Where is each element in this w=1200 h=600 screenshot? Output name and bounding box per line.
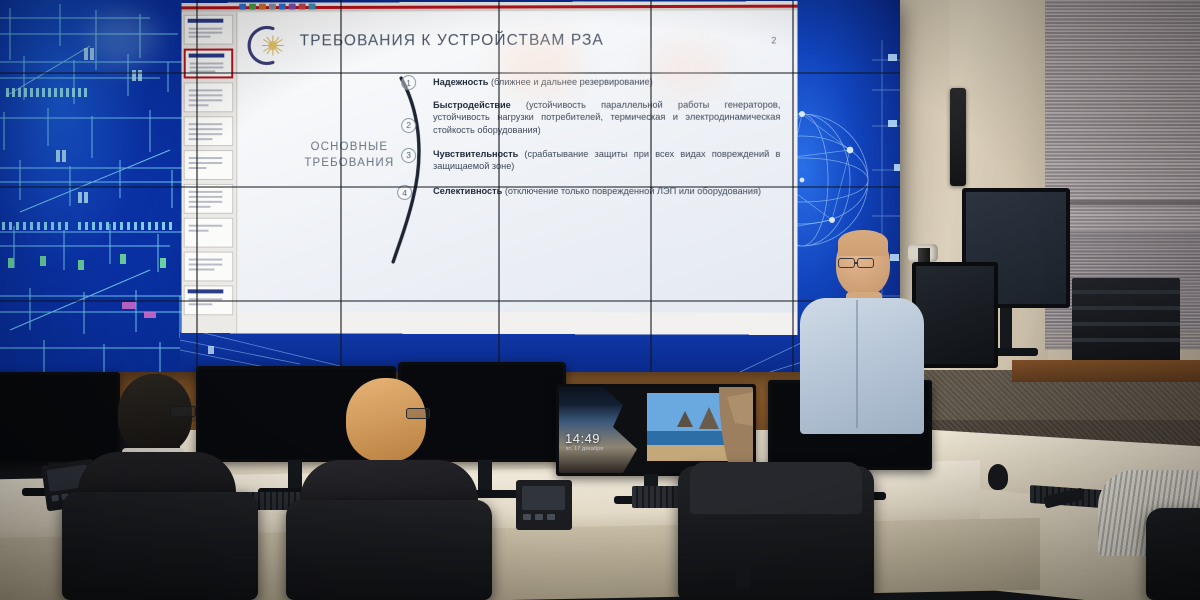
ribbon-icon-3[interactable] <box>259 4 266 10</box>
lock-screen-clock: 14:49 <box>565 431 600 446</box>
slide-thumbnail[interactable] <box>184 218 233 248</box>
item-badge: 3 <box>401 148 416 163</box>
lock-screen-date: вт, 17 декабря <box>566 446 603 452</box>
student-1-chair[interactable] <box>62 492 258 600</box>
glasses-icon <box>406 408 430 419</box>
item-text: (ближнее и дальнее резервирование) <box>488 77 652 87</box>
powerpoint-ribbon[interactable] <box>182 1 798 12</box>
item-badge: 1 <box>401 75 416 90</box>
wall-speaker-icon <box>950 88 966 186</box>
glasses-bridge <box>855 262 858 264</box>
secondary-wall-monitor[interactable] <box>912 262 998 368</box>
ribbon-icon-7[interactable] <box>299 4 306 10</box>
wood-ledge <box>1012 360 1200 382</box>
desk-phone-2[interactable] <box>516 480 572 530</box>
empty-chair-back <box>690 462 862 514</box>
decorative-arc-icon <box>387 72 433 273</box>
bezel-seam <box>0 186 900 188</box>
ribbon-icon-group[interactable] <box>239 3 315 10</box>
presenter-shirt <box>800 298 924 434</box>
slide-thumbnail[interactable] <box>184 116 233 146</box>
bezel-seam <box>0 72 900 74</box>
monitor-stand <box>478 460 492 494</box>
chair-column <box>736 552 750 588</box>
ribbon-icon-5[interactable] <box>279 4 286 10</box>
item-term: Чувствительность <box>433 149 518 159</box>
slide-number: 2 <box>771 35 776 45</box>
slide-thumbnail[interactable] <box>184 82 233 112</box>
slide-thumbnail[interactable] <box>184 15 233 45</box>
item-term: Надежность <box>433 77 488 87</box>
ribbon-icon-1[interactable] <box>239 4 246 10</box>
lock-screen: 14:49 вт, 17 декабря <box>559 387 753 473</box>
student-2-chair[interactable] <box>286 500 492 600</box>
ribbon-icon-2[interactable] <box>249 4 256 10</box>
slide-thumbnail[interactable] <box>184 252 233 282</box>
glasses-icon <box>838 258 855 268</box>
presenter-hair <box>838 230 888 256</box>
item-badge: 2 <box>401 118 416 133</box>
ribbon-icon-6[interactable] <box>289 4 296 10</box>
ribbon-icon-8[interactable] <box>309 3 316 9</box>
bezel-seam <box>0 300 900 302</box>
control-room-scene: ТРЕБОВАНИЯ К УСТРОЙСТВАМ РЗА 2 ОСНОВНЫЕ … <box>0 0 1200 600</box>
shirt-placket <box>856 300 858 428</box>
ribbon-icon-4[interactable] <box>269 4 276 10</box>
slide-thumbnail[interactable] <box>184 184 233 214</box>
wall-monitor-stand <box>1000 308 1012 352</box>
list-item: 3 Чувствительность (срабатывание защиты … <box>433 148 780 174</box>
powerpoint-window[interactable]: ТРЕБОВАНИЯ К УСТРОЙСТВАМ РЗА 2 ОСНОВНЫЕ … <box>182 1 798 335</box>
student-3-chair[interactable] <box>1146 508 1200 600</box>
list-item: 2 Быстродействие (устойчивость параллель… <box>433 98 780 136</box>
glasses-icon <box>170 406 196 417</box>
mouse[interactable] <box>988 464 1008 490</box>
list-item: 1 Надежность (ближнее и дальнее резервир… <box>433 76 780 89</box>
organization-logo-icon <box>243 22 295 68</box>
slide-thumbnail-panel[interactable] <box>182 12 237 334</box>
video-wall[interactable]: ТРЕБОВАНИЯ К УСТРОЙСТВАМ РЗА 2 ОСНОВНЫЕ … <box>0 0 900 372</box>
slide-title: ТРЕБОВАНИЯ К УСТРОЙСТВАМ РЗА <box>300 32 604 51</box>
desk-monitor-1-screen <box>0 375 117 461</box>
desk-monitor-1[interactable] <box>0 372 120 464</box>
student-2-head <box>346 378 426 462</box>
lock-screen-wallpaper <box>559 387 753 473</box>
glasses-icon <box>857 258 874 268</box>
active-slide: ТРЕБОВАНИЯ К УСТРОЙСТВАМ РЗА 2 ОСНОВНЫЕ … <box>238 11 796 313</box>
slide-thumbnail[interactable] <box>184 150 233 180</box>
